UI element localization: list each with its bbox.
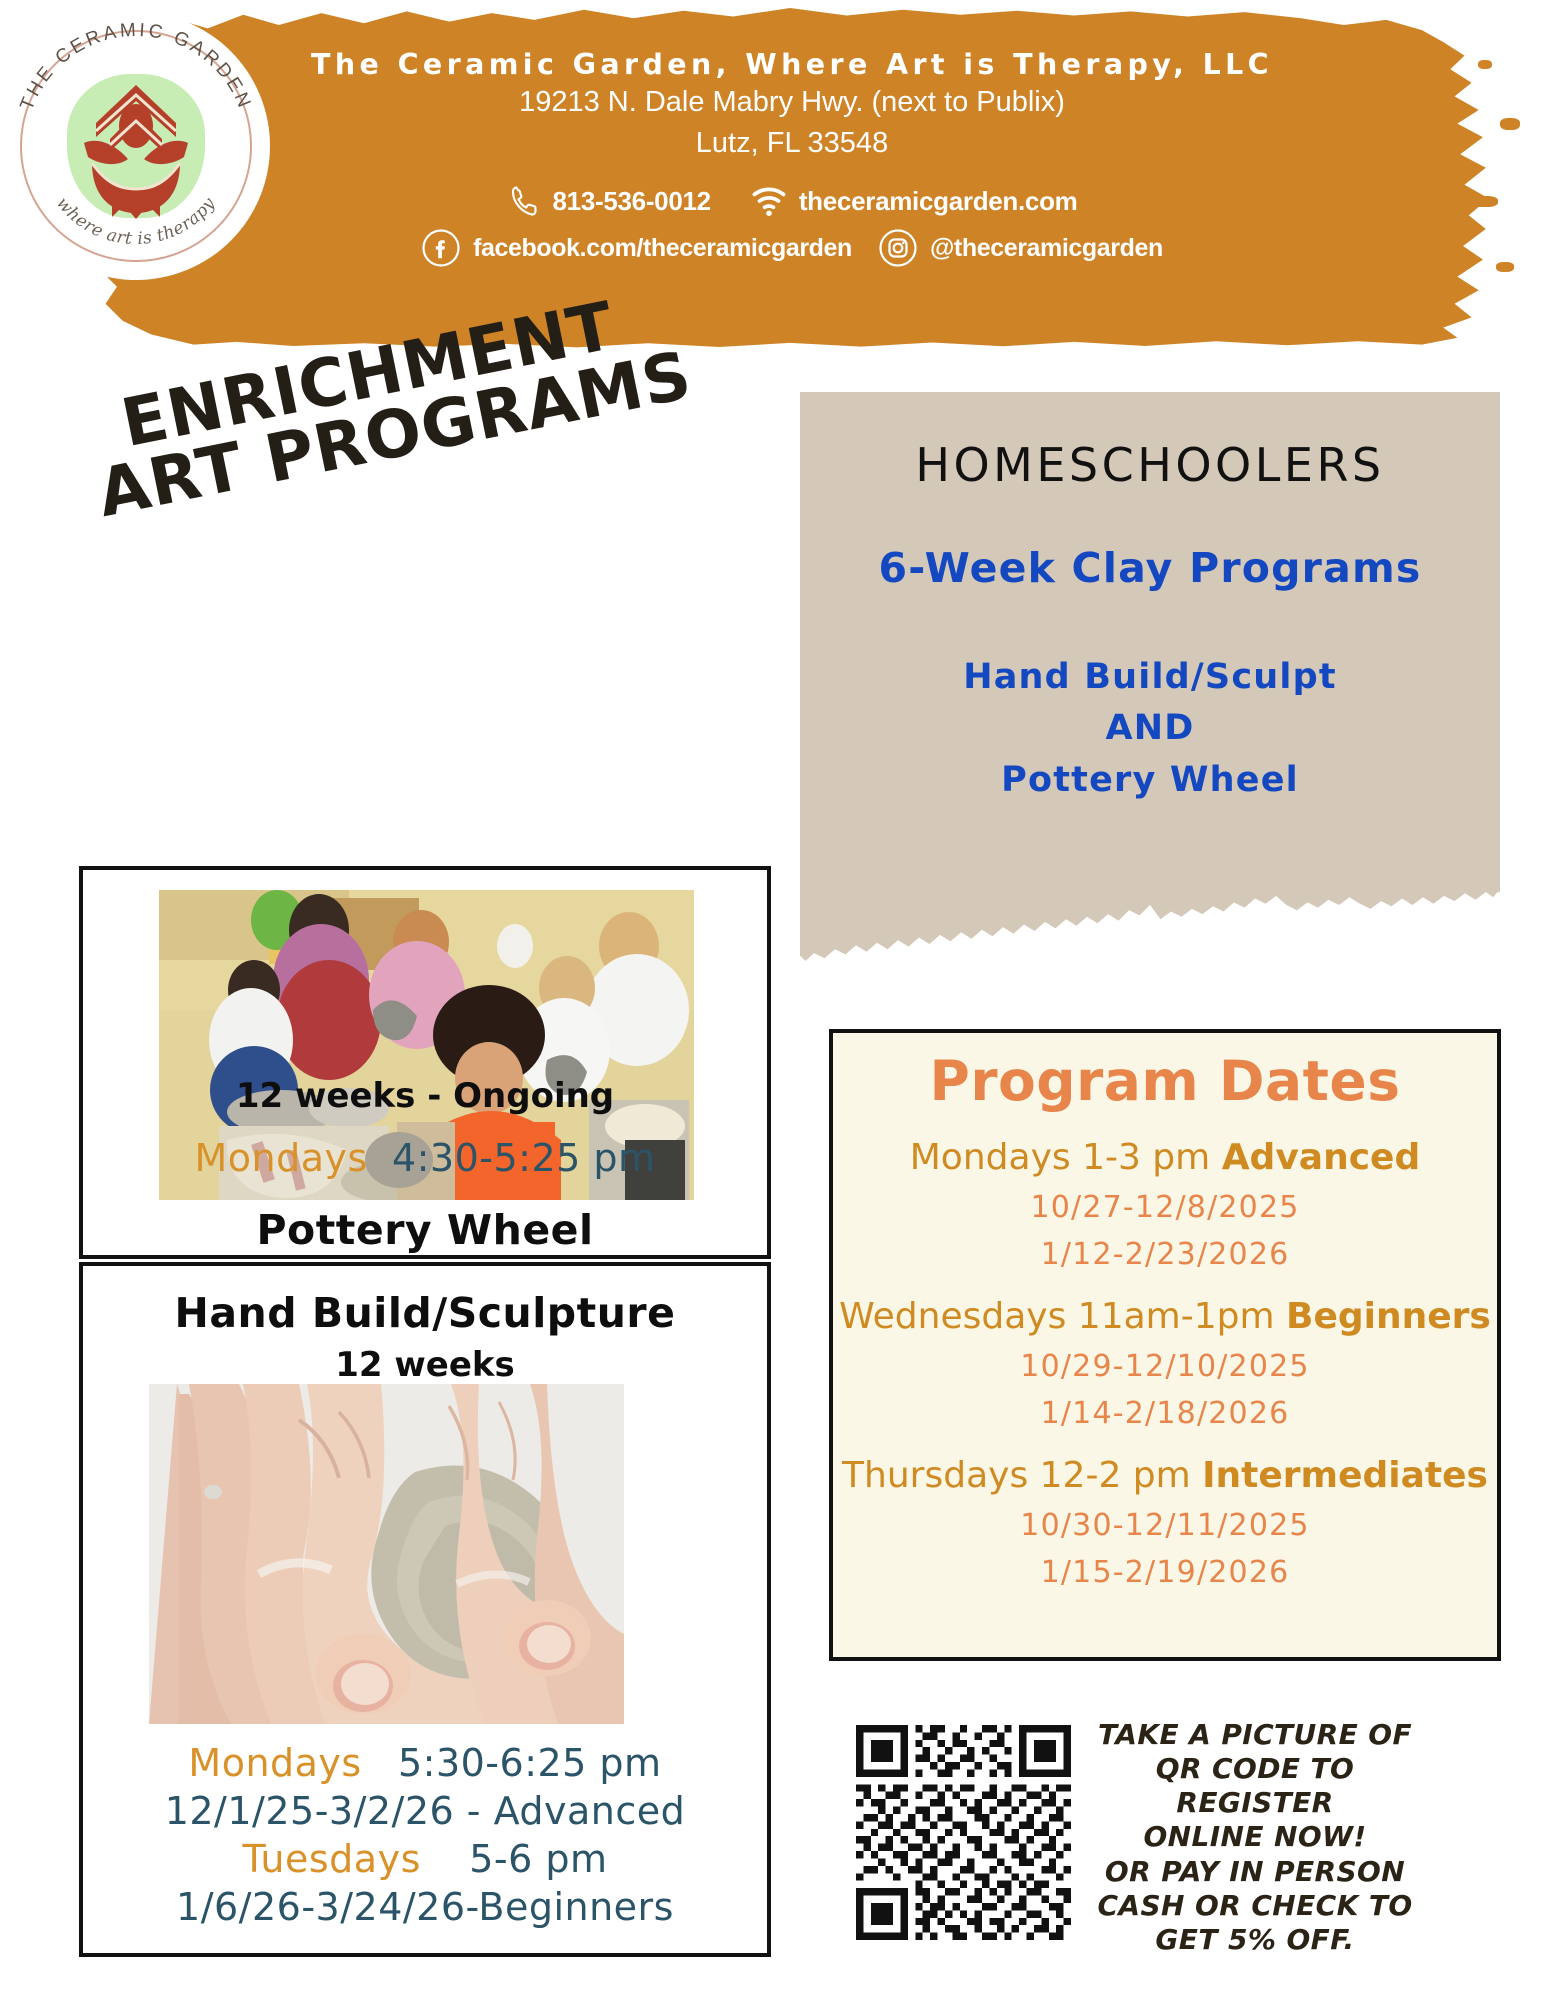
handbuild-time-1: 5:30-6:25 pm bbox=[398, 1741, 662, 1785]
pottery-card-duration: 12 weeks - Ongoing bbox=[83, 1076, 767, 1116]
handbuild-schedule-row: 12/1/25-3/2/26 - Advanced bbox=[83, 1789, 767, 1833]
handbuilding-photo-art bbox=[149, 1384, 624, 1724]
company-logo: THE CERAMIC GARDEN where art is therapy bbox=[2, 12, 270, 280]
handbuild-dates-2: 1/6/26-3/24/26-Beginners bbox=[176, 1885, 674, 1929]
handbuild-schedule-row: Tuesdays 5-6 pm bbox=[83, 1837, 767, 1881]
program-dates-heading: Thursdays 12-2 pm Intermediates bbox=[833, 1455, 1497, 1496]
pottery-card-title: Pottery Wheel bbox=[83, 1206, 767, 1254]
handbuild-card-title: Hand Build/Sculpture bbox=[83, 1289, 767, 1337]
handbuild-dates-1: 12/1/25-3/2/26 - Advanced bbox=[165, 1789, 686, 1833]
registration-note-line-5: CASH OR CHECK TO bbox=[1090, 1889, 1420, 1923]
program-dates-session: 10/30-12/11/2025 bbox=[833, 1508, 1497, 1543]
pottery-card-day: Mondays bbox=[194, 1136, 367, 1180]
registration-note-line-3: ONLINE NOW! bbox=[1090, 1820, 1420, 1854]
website-contact[interactable]: theceramicgarden.com bbox=[751, 185, 1078, 217]
page-title: ENRICHMENT ART PROGRAMS bbox=[105, 388, 705, 532]
facebook-icon bbox=[421, 228, 461, 268]
program-dates-heading: Wednesdays 11am-1pm Beginners bbox=[833, 1296, 1497, 1337]
program-dates-session: 1/15-2/19/2026 bbox=[833, 1555, 1497, 1590]
wifi-icon bbox=[751, 185, 787, 217]
homeschoolers-offering-1: Hand Build/Sculpt bbox=[800, 652, 1500, 703]
program-dates-box: Program Dates Mondays 1-3 pm Advanced 10… bbox=[829, 1029, 1501, 1661]
phone-contact[interactable]: 813-536-0012 bbox=[507, 184, 711, 218]
phone-number: 813-536-0012 bbox=[553, 186, 711, 217]
registration-note-line-6: GET 5% OFF. bbox=[1090, 1923, 1420, 1957]
handbuilding-clay-photo bbox=[149, 1384, 624, 1724]
handbuild-schedule-row: 1/6/26-3/24/26-Beginners bbox=[83, 1885, 767, 1929]
banner-speck bbox=[1500, 118, 1520, 130]
registration-note-line-2: QR CODE TO REGISTER bbox=[1090, 1752, 1420, 1820]
dates-heading-plain-2: Wednesdays 11am-1pm bbox=[839, 1296, 1286, 1337]
contact-row-primary: 813-536-0012 theceramicgarden.com bbox=[232, 184, 1352, 218]
homeschoolers-title: HOMESCHOOLERS bbox=[800, 438, 1500, 492]
program-dates-title: Program Dates bbox=[833, 1049, 1497, 1113]
homeschoolers-panel: HOMESCHOOLERS 6-Week Clay Programs Hand … bbox=[800, 392, 1500, 892]
homeschoolers-offering-2: AND bbox=[800, 703, 1500, 754]
homeschoolers-offerings: Hand Build/Sculpt AND Pottery Wheel bbox=[800, 652, 1500, 806]
instagram-icon bbox=[878, 228, 918, 268]
program-dates-session: 10/27-12/8/2025 bbox=[833, 1190, 1497, 1225]
program-dates-session: 1/14-2/18/2026 bbox=[833, 1396, 1497, 1431]
qr-code[interactable] bbox=[856, 1725, 1071, 1940]
contact-row-social: facebook.com/theceramicgarden @thecerami… bbox=[232, 228, 1352, 268]
program-dates-heading: Mondays 1-3 pm Advanced bbox=[833, 1137, 1497, 1178]
pottery-card-time: 4:30-5:25 pm bbox=[392, 1136, 656, 1180]
website-url: theceramicgarden.com bbox=[799, 186, 1078, 217]
dates-heading-plain-3: Thursdays 12-2 pm bbox=[842, 1455, 1202, 1496]
program-dates-session: 1/12-2/23/2026 bbox=[833, 1237, 1497, 1272]
facebook-url: facebook.com/theceramicgarden bbox=[473, 234, 852, 263]
homeschoolers-offering-3: Pottery Wheel bbox=[800, 755, 1500, 806]
registration-note-line-4: OR PAY IN PERSON bbox=[1090, 1855, 1420, 1889]
pottery-card-schedule: Mondays 4:30-5:25 pm bbox=[83, 1136, 767, 1180]
address-line-1: 19213 N. Dale Mabry Hwy. (next to Publix… bbox=[232, 86, 1352, 119]
dates-heading-plain-1: Mondays 1-3 pm bbox=[910, 1137, 1222, 1178]
handbuild-schedule-row: Mondays 5:30-6:25 pm bbox=[83, 1741, 767, 1785]
banner-speck bbox=[1478, 60, 1492, 69]
logo-seed-mark bbox=[66, 71, 206, 221]
dates-heading-level-1: Advanced bbox=[1222, 1137, 1421, 1178]
business-name: The Ceramic Garden, Where Art is Therapy… bbox=[232, 48, 1352, 81]
program-dates-session: 10/29-12/10/2025 bbox=[833, 1349, 1497, 1384]
address-line-2: Lutz, FL 33548 bbox=[232, 127, 1352, 160]
header-banner: THE CERAMIC GARDEN where art is therapy … bbox=[0, 0, 1545, 360]
program-dates-group: Thursdays 12-2 pm Intermediates 10/30-12… bbox=[833, 1455, 1497, 1590]
instagram-contact[interactable]: @theceramicgarden bbox=[878, 228, 1163, 268]
pottery-wheel-card: Pottery Wheel bbox=[79, 866, 771, 1259]
instagram-handle: @theceramicgarden bbox=[930, 234, 1163, 263]
homeschoolers-subtitle: 6-Week Clay Programs bbox=[800, 544, 1500, 592]
homeschoolers-torn-edge bbox=[800, 840, 1500, 970]
facebook-contact[interactable]: facebook.com/theceramicgarden bbox=[421, 228, 852, 268]
dates-heading-level-3: Intermediates bbox=[1202, 1455, 1488, 1496]
dates-heading-level-2: Beginners bbox=[1286, 1296, 1491, 1337]
program-dates-group: Mondays 1-3 pm Advanced 10/27-12/8/2025 … bbox=[833, 1137, 1497, 1272]
handbuild-day-2: Tuesdays bbox=[242, 1837, 420, 1881]
phone-icon bbox=[507, 184, 541, 218]
banner-speck bbox=[1496, 262, 1514, 272]
registration-note-line-1: TAKE A PICTURE OF bbox=[1090, 1718, 1420, 1752]
registration-note: TAKE A PICTURE OF QR CODE TO REGISTER ON… bbox=[1090, 1718, 1420, 1957]
handbuild-card-duration: 12 weeks bbox=[83, 1345, 767, 1385]
handbuild-schedule-list: Mondays 5:30-6:25 pm 12/1/25-3/2/26 - Ad… bbox=[83, 1741, 767, 1929]
handbuild-day-1: Mondays bbox=[188, 1741, 361, 1785]
handbuild-time-2: 5-6 pm bbox=[469, 1837, 607, 1881]
qr-code-icon bbox=[856, 1725, 1071, 1940]
program-dates-group: Wednesdays 11am-1pm Beginners 10/29-12/1… bbox=[833, 1296, 1497, 1431]
banner-speck bbox=[1472, 196, 1498, 207]
